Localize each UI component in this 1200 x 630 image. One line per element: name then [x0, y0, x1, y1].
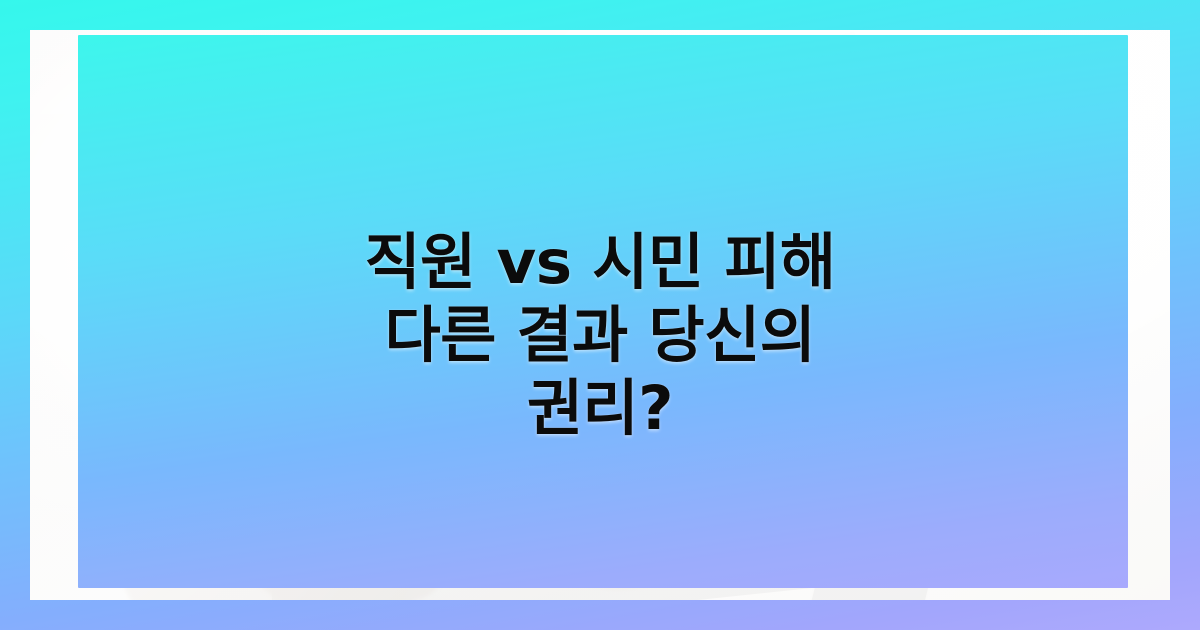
eyeglasses-temple-right: [1029, 473, 1079, 522]
content-card: 직원 vs 시민 피해 다른 결과 당신의 권리?: [30, 30, 1170, 600]
headline-line-3: 권리?: [100, 372, 1100, 445]
thumbnail-canvas: 직원 vs 시민 피해 다른 결과 당신의 권리?: [0, 0, 1200, 630]
headline-line-2: 다른 결과 당신의: [100, 299, 1100, 372]
headline-line-1: 직원 vs 시민 피해: [100, 226, 1100, 299]
headline-block: 직원 vs 시민 피해 다른 결과 당신의 권리?: [30, 226, 1170, 445]
